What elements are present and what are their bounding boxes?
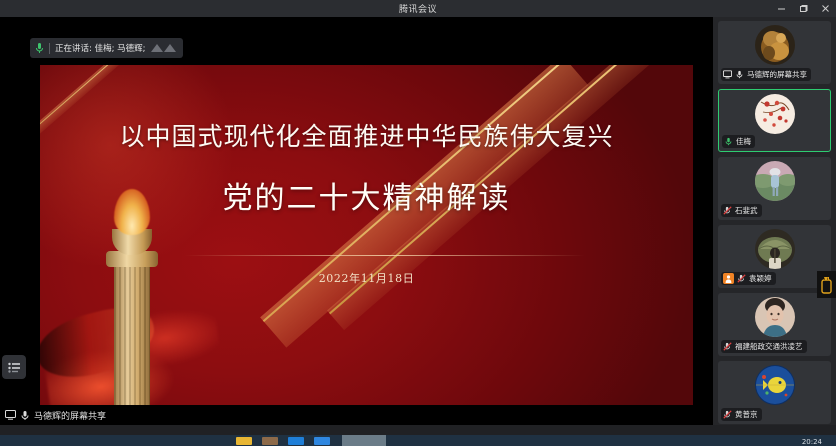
tencent-meeting-window: 腾讯会议	[0, 0, 836, 446]
sculpture-avatar-icon	[755, 25, 795, 65]
participant-name: 黄普京	[735, 409, 758, 420]
participant-badges: 福建船政交通洪凌艺	[721, 340, 807, 353]
slide-subtitle: 党的二十大精神解读	[40, 173, 693, 217]
annotation-list-button[interactable]	[2, 355, 26, 379]
participant-badges: 黄普京	[721, 408, 762, 421]
window-title: 腾讯会议	[399, 2, 437, 15]
microphone-muted-icon	[737, 274, 746, 283]
minimize-button[interactable]	[770, 0, 792, 17]
microphone-icon	[35, 42, 44, 54]
participant-name: 福建船政交通洪凌艺	[735, 341, 803, 352]
close-button[interactable]	[814, 0, 836, 17]
participant-badges: 佳梅	[722, 135, 755, 148]
participant-tile[interactable]: 福建船政交通洪凌艺	[718, 293, 831, 356]
taskbar-app-icon[interactable]	[288, 437, 304, 445]
raise-hand-glyph	[725, 275, 732, 283]
person-outdoors-avatar-icon	[755, 161, 795, 201]
usb-device-icon	[821, 276, 832, 294]
taskbar-active-window[interactable]	[342, 435, 386, 446]
slide-text-layer: 以中国式现代化全面推进中华民族伟大复兴 党的二十大精神解读 2022年11月18…	[40, 65, 693, 421]
minimize-icon	[777, 4, 786, 13]
taskbar-app-icon[interactable]	[314, 437, 330, 445]
participant-tile[interactable]: 袁颖婷	[718, 225, 831, 288]
microphone-muted-icon	[723, 410, 732, 419]
share-owner-bar: 马德辉的屏幕共享	[0, 405, 713, 425]
taskbar-icons	[0, 437, 330, 445]
plum-blossom-avatar-icon	[755, 94, 795, 134]
windows-taskbar[interactable]: 20:24	[0, 435, 836, 446]
maximize-icon	[799, 4, 808, 13]
umbrella-person-avatar-icon	[755, 229, 795, 269]
slide-title: 以中国式现代化全面推进中华民族伟大复兴	[40, 117, 693, 153]
microphone-icon	[724, 137, 733, 146]
usb-device-indicator[interactable]	[817, 271, 836, 298]
close-icon	[821, 4, 830, 13]
slide-divider	[185, 255, 585, 256]
screen-share-icon	[5, 410, 16, 420]
avatar	[755, 229, 795, 269]
participant-rail[interactable]: 马德辉的屏幕共享	[713, 17, 836, 425]
microphone-icon	[735, 70, 744, 79]
avatar	[755, 297, 795, 337]
list-view-icon	[8, 362, 21, 373]
participant-tile[interactable]: 佳梅	[718, 89, 831, 152]
participant-name: 石婓武	[735, 205, 758, 216]
shared-screen-stage[interactable]: 以中国式现代化全面推进中华民族伟大复兴 党的二十大精神解读 2022年11月18…	[0, 17, 713, 425]
speaking-label: 正在讲话: 佳梅; 马德辉;	[55, 42, 146, 54]
window-controls	[770, 0, 836, 17]
participant-tile[interactable]: 马德辉的屏幕共享	[718, 21, 831, 84]
shared-slide: 以中国式现代化全面推进中华民族伟大复兴 党的二十大精神解读 2022年11月18…	[40, 65, 693, 421]
participant-name: 袁颖婷	[749, 273, 772, 284]
microphone-icon	[21, 410, 29, 421]
avatar	[755, 365, 795, 405]
microphone-muted-icon	[723, 342, 732, 351]
slide-date: 2022年11月18日	[40, 270, 693, 286]
participant-tile[interactable]: 石婓武	[718, 157, 831, 220]
participant-name: 佳梅	[736, 136, 751, 147]
divider	[49, 43, 50, 54]
avatar	[755, 25, 795, 65]
portrait-avatar-icon	[755, 297, 795, 337]
speaking-indicator[interactable]: 正在讲话: 佳梅; 马德辉;	[30, 38, 183, 58]
participant-badges: 马德辉的屏幕共享	[721, 68, 811, 81]
participant-badges: 石婓武	[721, 204, 762, 217]
microphone-muted-icon	[723, 206, 732, 215]
maximize-button[interactable]	[792, 0, 814, 17]
window-titlebar: 腾讯会议	[0, 0, 836, 17]
audio-waveform-icon	[151, 44, 176, 52]
screen-share-icon	[723, 70, 732, 79]
participant-name: 马德辉的屏幕共享	[747, 69, 807, 80]
taskbar-app-icon[interactable]	[236, 437, 252, 445]
taskbar-app-icon[interactable]	[262, 437, 278, 445]
participant-badges: 袁颖婷	[721, 272, 776, 285]
taskbar-clock[interactable]: 20:24	[802, 438, 822, 446]
raise-hand-icon	[723, 273, 734, 284]
fish-globe-avatar-icon	[755, 365, 795, 405]
share-owner-label: 马德辉的屏幕共享	[34, 409, 106, 422]
avatar	[755, 161, 795, 201]
participant-tile[interactable]: 黄普京	[718, 361, 831, 424]
avatar	[755, 94, 795, 134]
